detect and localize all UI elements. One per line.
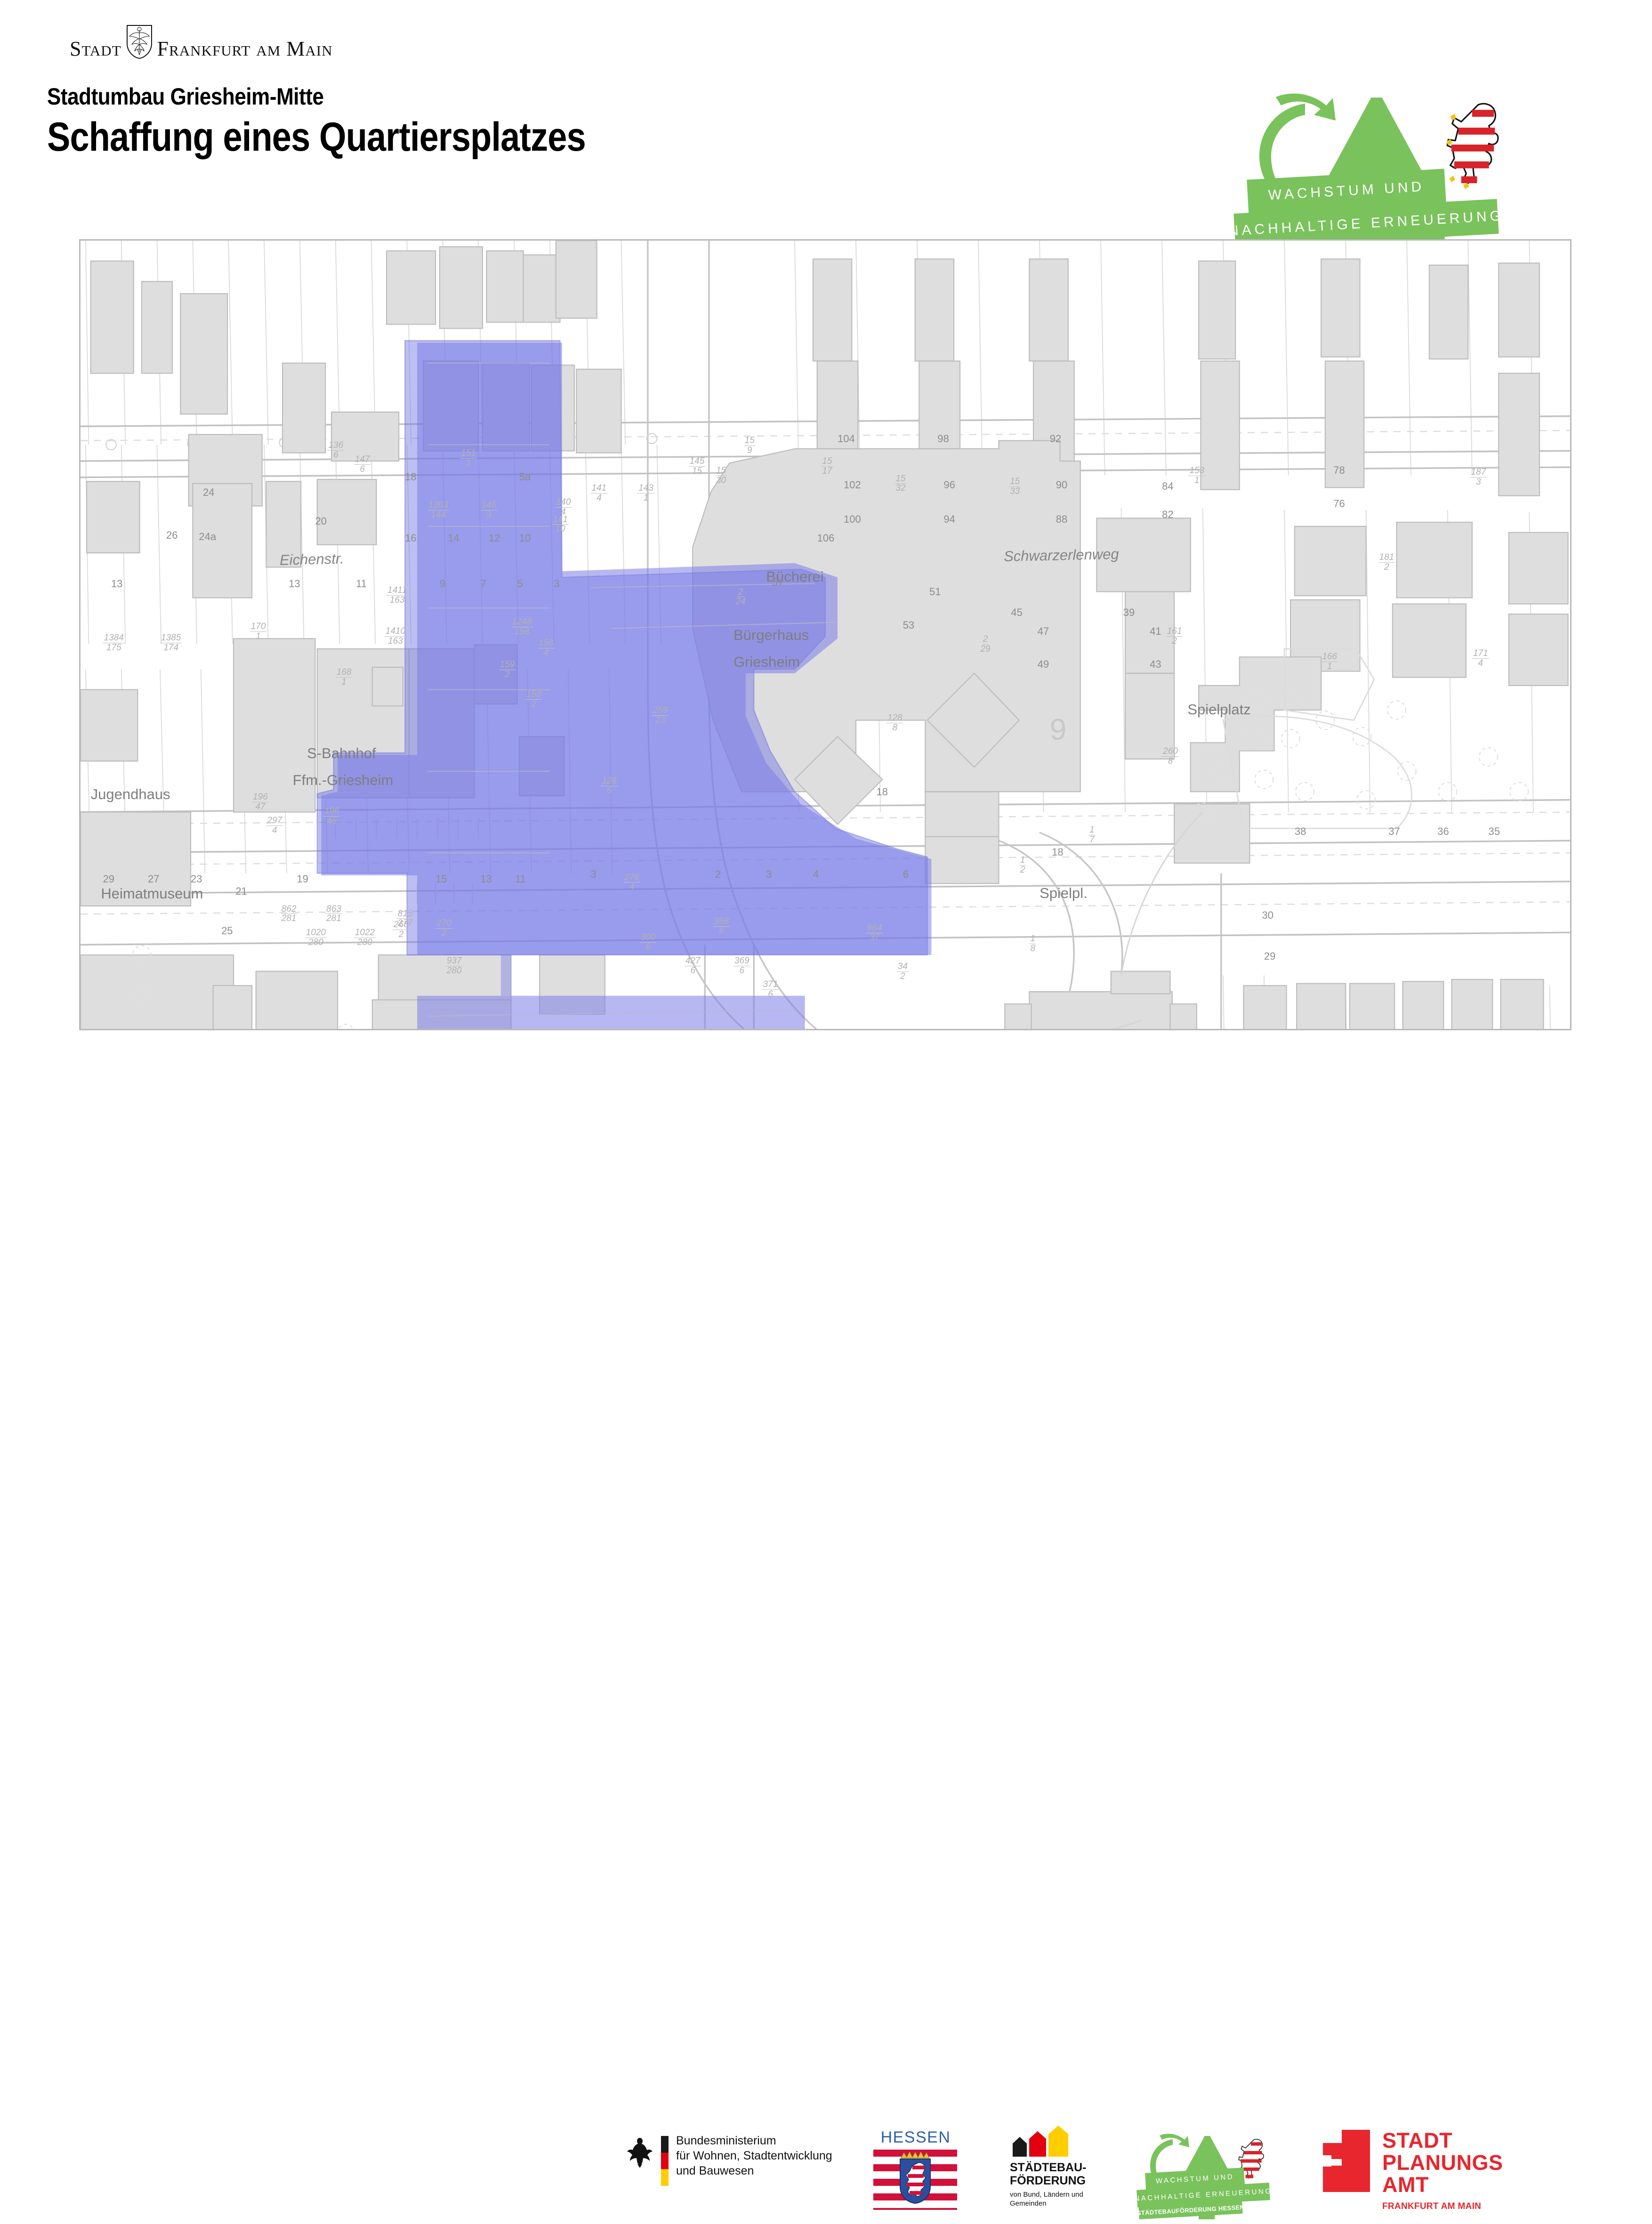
bmwsb-line2: für Wohnen, Stadtentwicklung: [676, 2148, 832, 2163]
hessen-label: HESSEN: [873, 2128, 958, 2147]
staedtebaufoerderung-logo: STÄDTEBAU- FÖRDERUNG von Bund, Ländern u…: [1010, 2128, 1128, 2208]
city-logo-word-frankfurt: Frankfurt am Main: [157, 39, 333, 59]
staedtebau-line2: FÖRDERUNG: [1010, 2174, 1128, 2187]
title-block: Stadtumbau Griesheim-Mitte Schaffung ein…: [47, 83, 673, 161]
page-header: Stadt Frankfurt am Main Stadtumbau Gries…: [0, 0, 1652, 235]
stadtplanungsamt-text: STADT PLANUNGS AMT FRANKFURT AM MAIN: [1382, 2130, 1503, 2212]
bmwsb-logo: Bundesministerium für Wohnen, Stadtentwi…: [626, 2133, 832, 2186]
stadtplanungsamt-logo: STADT PLANUNGS AMT FRANKFURT AM MAIN: [1323, 2130, 1503, 2212]
map-vector-layer: [81, 241, 1570, 1030]
highlight-connector: [501, 955, 511, 996]
bmwsb-line1: Bundesministerium: [676, 2133, 832, 2148]
german-flag-bar-icon: [661, 2136, 669, 2186]
spa-line3: AMT: [1382, 2174, 1503, 2196]
stadtplanungsamt-mark-icon: [1323, 2130, 1370, 2192]
hessen-lion-crest-icon: [898, 2151, 932, 2204]
staedtebau-title: STÄDTEBAU- FÖRDERUNG: [1010, 2161, 1128, 2187]
cadastral-map[interactable]: Eichenstr.SchwarzerlenwegAm Gemeindegart…: [79, 239, 1571, 1030]
frankfurt-eagle-crest-icon: [126, 24, 153, 59]
spa-line1: STADT: [1382, 2130, 1503, 2152]
hessen-lion-icon: [1443, 98, 1503, 192]
page-title: Schaffung eines Quartiersplatzes: [47, 114, 586, 161]
bundesadler-icon: [626, 2136, 653, 2168]
staedtebau-line1: STÄDTEBAU-: [1010, 2161, 1128, 2174]
page-subtitle: Stadtumbau Griesheim-Mitte: [47, 83, 598, 110]
hessen-logo: HESSEN: [873, 2128, 958, 2210]
city-logo: Stadt Frankfurt am Main: [70, 24, 333, 59]
spa-line2: PLANUNGS: [1382, 2152, 1503, 2174]
bmwsb-line3: und Bauwesen: [676, 2163, 832, 2178]
wachstum-erneuerung-logo-small: WACHSTUM UND NACHHALTIGE ERNEUERUNG STÄD…: [1137, 2130, 1297, 2224]
staedtebau-sub2: Gemeinden: [1010, 2200, 1128, 2208]
three-houses-icon: [1013, 2128, 1128, 2157]
city-logo-word-stadt: Stadt: [70, 39, 121, 59]
page-footer: Bundesministerium für Wohnen, Stadtentwi…: [0, 1062, 1652, 1168]
spa-sub: FRANKFURT AM MAIN: [1382, 2201, 1503, 2212]
hessen-flag: [873, 2150, 957, 2210]
staedtebau-sub1: von Bund, Ländern und: [1010, 2191, 1128, 2200]
bmwsb-text: Bundesministerium für Wohnen, Stadtentwi…: [676, 2133, 832, 2178]
staedtebau-sub: von Bund, Ländern und Gemeinden: [1010, 2191, 1128, 2208]
